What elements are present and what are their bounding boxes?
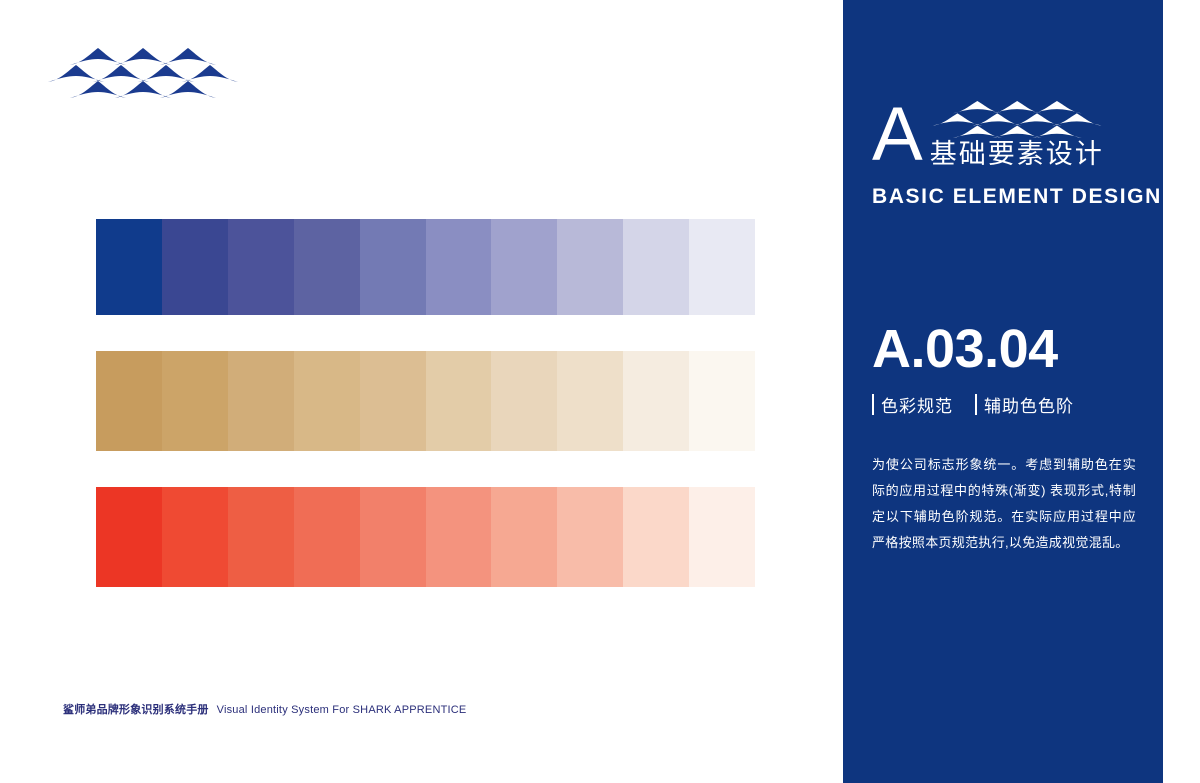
panel-body-text: 为使公司标志形象统一。考虑到辅助色在实际的应用过程中的特殊(渐变) 表现形式,特…	[872, 452, 1136, 556]
swatch	[426, 219, 492, 315]
swatch	[689, 351, 755, 451]
swatch	[360, 219, 426, 315]
swatch	[294, 351, 360, 451]
swatch	[162, 219, 228, 315]
subtitle-secondary-scale: 辅助色色阶	[975, 392, 1074, 417]
bar-marker-icon	[975, 394, 977, 415]
subtitle-color-spec: 色彩规范	[872, 392, 953, 417]
corner-wave-logo	[48, 47, 238, 99]
swatch	[623, 351, 689, 451]
panel-cn-title: 基础要素设计	[930, 141, 1147, 168]
swatch	[96, 487, 162, 587]
swatch	[689, 219, 755, 315]
swatch	[557, 219, 623, 315]
swatch	[294, 487, 360, 587]
wave-pattern-icon	[930, 101, 1110, 139]
section-code: A.03.04	[872, 322, 1058, 376]
swatch	[228, 487, 294, 587]
footer-en-text: Visual Identity System For SHARK APPRENT…	[217, 704, 467, 716]
subtitle-label: 色彩规范	[881, 392, 953, 417]
panel-header: A	[872, 92, 1147, 209]
swatch	[491, 351, 557, 451]
panel-subtitles: 色彩规范 辅助色色阶	[872, 392, 1074, 417]
swatch	[228, 351, 294, 451]
swatch-row-blue-tint-scale	[96, 219, 755, 315]
swatch	[557, 487, 623, 587]
wave-pattern-icon	[48, 47, 238, 99]
swatch	[689, 487, 755, 587]
swatch	[162, 487, 228, 587]
swatch	[360, 351, 426, 451]
swatch	[162, 351, 228, 451]
swatch-row-orange-tint-scale	[96, 487, 755, 587]
side-panel: A	[843, 0, 1163, 783]
swatch	[426, 351, 492, 451]
swatch	[96, 351, 162, 451]
panel-en-title: BASIC ELEMENT DESIGN	[872, 185, 1147, 209]
swatch	[491, 487, 557, 587]
swatch	[360, 487, 426, 587]
swatch	[491, 219, 557, 315]
brand-guideline-page: A	[0, 0, 1200, 783]
color-scale-area	[96, 219, 755, 623]
bar-marker-icon	[872, 394, 874, 415]
swatch	[294, 219, 360, 315]
footer-cn-text: 鲨师弟品牌形象识别系统手册	[63, 704, 209, 716]
footer: 鲨师弟品牌形象识别系统手册Visual Identity System For …	[63, 701, 466, 717]
swatch	[426, 487, 492, 587]
section-letter: A	[872, 100, 922, 170]
panel-wave-logo	[930, 101, 1110, 139]
swatch-row-gold-tint-scale	[96, 351, 755, 451]
subtitle-label: 辅助色色阶	[984, 392, 1074, 417]
swatch	[557, 351, 623, 451]
swatch	[623, 487, 689, 587]
swatch	[228, 219, 294, 315]
swatch	[623, 219, 689, 315]
swatch	[96, 219, 162, 315]
